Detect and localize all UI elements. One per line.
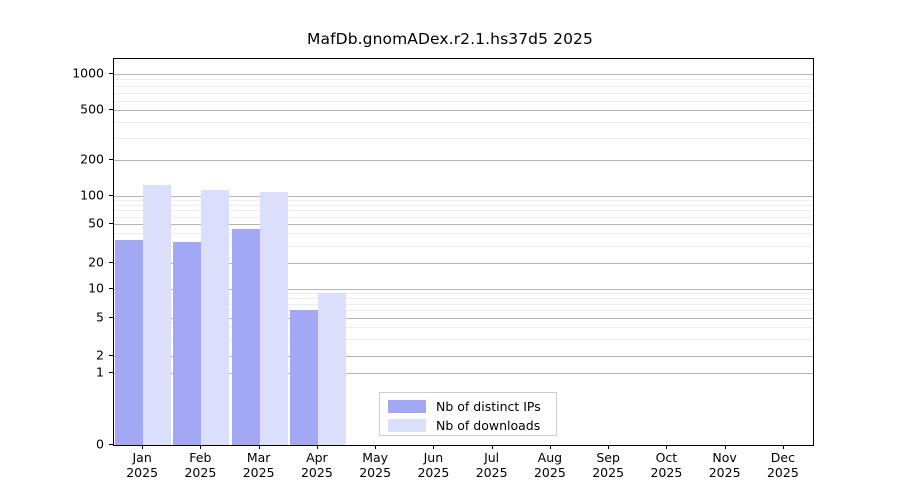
x-axis-tick-mark xyxy=(783,445,784,449)
y-axis-tick-label: 1 xyxy=(96,365,104,380)
x-axis-tick-month: Jul xyxy=(476,450,508,465)
gridline-minor xyxy=(114,101,813,102)
x-axis-tick-label: Oct2025 xyxy=(650,450,682,480)
x-axis-tick-mark xyxy=(492,445,493,449)
y-axis-tick-label: 5 xyxy=(96,310,104,325)
x-axis-tick-mark xyxy=(200,445,201,449)
x-axis-tick-month: Apr xyxy=(301,450,333,465)
legend-swatch-distinct-ips xyxy=(388,400,426,413)
y-axis-tick-label: 1000 xyxy=(72,66,104,81)
bar-distinct-ips xyxy=(290,310,318,445)
x-axis-tick-mark xyxy=(259,445,260,449)
x-axis-tick-month: Feb xyxy=(184,450,216,465)
y-axis-tick-label: 200 xyxy=(80,152,104,167)
x-axis-tick-mark xyxy=(725,445,726,449)
x-axis-tick-mark xyxy=(433,445,434,449)
chart-legend: Nb of distinct IPs Nb of downloads xyxy=(379,392,557,436)
x-axis-tick-mark xyxy=(666,445,667,449)
x-axis-tick-month: Dec xyxy=(767,450,799,465)
gridline-minor xyxy=(114,79,813,80)
gridline-major xyxy=(114,110,813,111)
x-axis-tick-label: Jan2025 xyxy=(126,450,158,480)
bar-downloads xyxy=(201,190,229,445)
x-axis-tick-year: 2025 xyxy=(126,465,158,480)
x-axis-tick-year: 2025 xyxy=(709,465,741,480)
y-axis-labels: 01251020501002005001000 xyxy=(0,0,104,500)
x-axis-tick-year: 2025 xyxy=(650,465,682,480)
legend-item-downloads: Nb of downloads xyxy=(388,416,540,434)
x-axis-tick-year: 2025 xyxy=(359,465,391,480)
x-axis-tick-label: Apr2025 xyxy=(301,450,333,480)
gridline-minor xyxy=(114,138,813,139)
x-axis-tick-year: 2025 xyxy=(184,465,216,480)
x-axis-tick-year: 2025 xyxy=(534,465,566,480)
x-axis-tick-year: 2025 xyxy=(417,465,449,480)
x-axis-tick-label: Feb2025 xyxy=(184,450,216,480)
x-axis-tick-label: Aug2025 xyxy=(534,450,566,480)
y-axis-tick-label: 0 xyxy=(96,437,104,452)
bar-distinct-ips xyxy=(232,229,260,445)
x-axis-tick-month: Nov xyxy=(709,450,741,465)
x-axis-tick-month: Mar xyxy=(243,450,275,465)
gridline-minor xyxy=(114,86,813,87)
x-axis-tick-year: 2025 xyxy=(476,465,508,480)
plot-area xyxy=(113,58,814,446)
x-axis-tick-month: Aug xyxy=(534,450,566,465)
legend-label-downloads: Nb of downloads xyxy=(436,418,540,433)
x-axis-tick-label: May2025 xyxy=(359,450,391,480)
x-axis-tick-mark xyxy=(317,445,318,449)
legend-item-distinct-ips: Nb of distinct IPs xyxy=(388,397,541,415)
y-axis-tick-label: 10 xyxy=(88,281,104,296)
bar-downloads xyxy=(143,185,171,445)
gridline-major xyxy=(114,74,813,75)
x-axis-tick-mark xyxy=(375,445,376,449)
y-axis-tick-label: 100 xyxy=(80,188,104,203)
x-axis-tick-month: Sep xyxy=(592,450,624,465)
chart-screenshot: MafDb.gnomADex.r2.1.hs37d5 2025 01251020… xyxy=(0,0,900,500)
x-axis-tick-month: Jan xyxy=(126,450,158,465)
x-axis-tick-mark xyxy=(550,445,551,449)
x-axis-tick-month: Jun xyxy=(417,450,449,465)
x-axis-tick-year: 2025 xyxy=(301,465,333,480)
gridline-minor xyxy=(114,122,813,123)
gridline-minor xyxy=(114,93,813,94)
x-axis-tick-label: Jun2025 xyxy=(417,450,449,480)
chart-title: MafDb.gnomADex.r2.1.hs37d5 2025 xyxy=(0,30,900,48)
y-axis-tick-label: 2 xyxy=(96,348,104,363)
bar-distinct-ips xyxy=(115,240,143,445)
x-axis-tick-mark xyxy=(608,445,609,449)
bar-downloads xyxy=(318,293,346,445)
x-axis-tick-label: Jul2025 xyxy=(476,450,508,480)
legend-swatch-downloads xyxy=(388,419,426,432)
x-axis-tick-year: 2025 xyxy=(592,465,624,480)
y-axis-tick-label: 500 xyxy=(80,102,104,117)
x-axis-tick-label: Sep2025 xyxy=(592,450,624,480)
plot-inner xyxy=(114,59,813,445)
x-axis-tick-year: 2025 xyxy=(243,465,275,480)
x-axis-tick-label: Nov2025 xyxy=(709,450,741,480)
y-axis-tick-label: 50 xyxy=(88,216,104,231)
gridline-major xyxy=(114,160,813,161)
bar-downloads xyxy=(260,192,288,445)
x-axis-tick-label: Mar2025 xyxy=(243,450,275,480)
x-axis-tick-label: Dec2025 xyxy=(767,450,799,480)
bar-distinct-ips xyxy=(173,242,201,445)
x-axis-tick-month: Oct xyxy=(650,450,682,465)
legend-label-distinct-ips: Nb of distinct IPs xyxy=(436,399,541,414)
y-axis-tick-label: 20 xyxy=(88,255,104,270)
x-axis-tick-mark xyxy=(142,445,143,449)
x-axis-tick-month: May xyxy=(359,450,391,465)
x-axis-tick-year: 2025 xyxy=(767,465,799,480)
